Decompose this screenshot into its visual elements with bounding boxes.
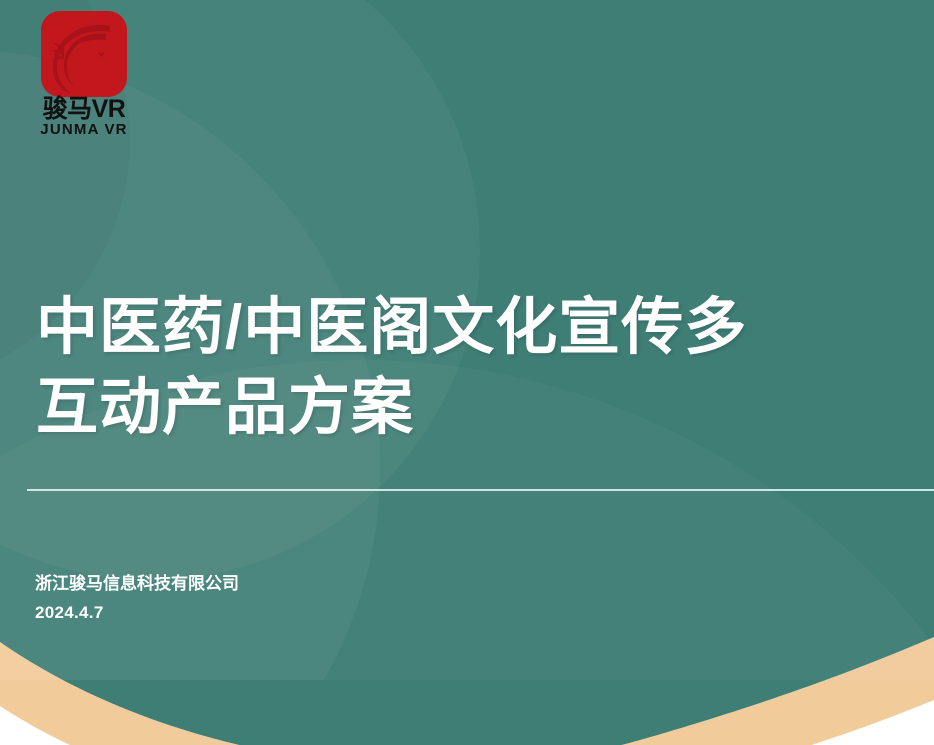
title-slide: 骏马VR JUNMA VR 中医药/中医阁文化宣传多 互动产品方案 浙江骏马信息… bbox=[0, 0, 934, 745]
logo-wordmark: 骏马VR bbox=[18, 96, 150, 123]
page-title: 中医药/中医阁文化宣传多 互动产品方案 bbox=[36, 288, 934, 448]
logo-subtitle: JUNMA VR bbox=[18, 122, 150, 138]
title-underline-rule bbox=[27, 489, 934, 491]
company-name: 浙江骏马信息科技有限公司 bbox=[35, 569, 239, 598]
presentation-date: 2024.4.7 bbox=[35, 598, 239, 627]
page-title-line-2: 互动产品方案 bbox=[36, 368, 934, 448]
page-title-line-1: 中医药/中医阁文化宣传多 bbox=[36, 288, 934, 368]
junma-horse-head-mark-icon bbox=[40, 10, 128, 98]
brand-logo[interactable]: 骏马VR JUNMA VR bbox=[18, 10, 150, 142]
footer: 浙江骏马信息科技有限公司 2024.4.7 bbox=[35, 569, 239, 627]
